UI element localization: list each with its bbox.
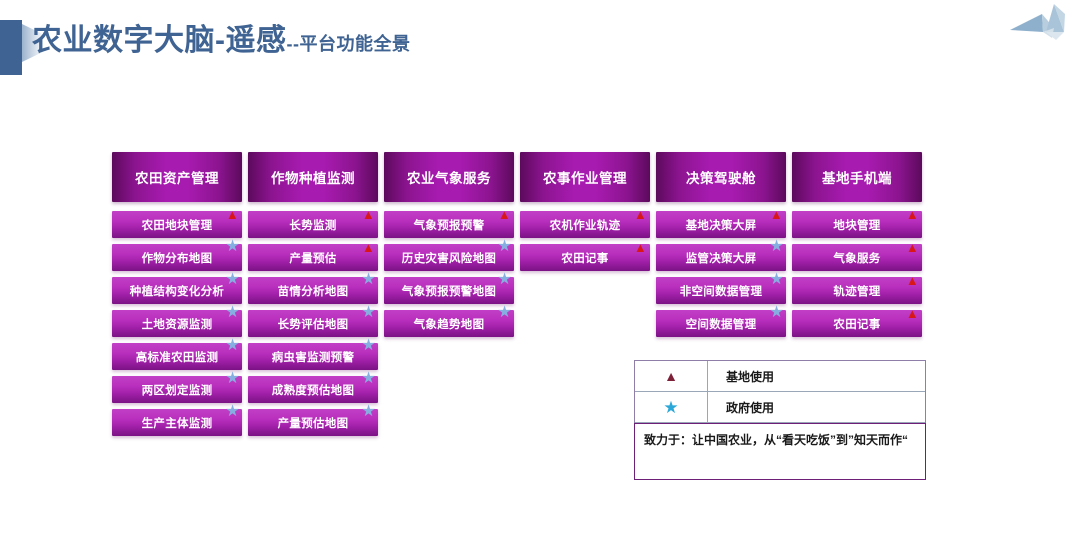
feature-item[interactable]: 轨迹管理▲ [792, 277, 922, 304]
feature-column: 农事作业管理农机作业轨迹▲农田记事▲ [520, 152, 650, 436]
gov-use-star-icon: ★ [225, 272, 240, 288]
column-header[interactable]: 基地手机端 [792, 152, 922, 202]
feature-item[interactable]: 种植结构变化分析★ [112, 277, 242, 304]
column-item-list: 农田地块管理▲作物分布地图★种植结构变化分析★土地资源监测★高标准农田监测★两区… [112, 211, 242, 436]
legend-row: ★政府使用 [635, 392, 925, 423]
gov-use-star-icon: ★ [497, 239, 512, 255]
feature-item[interactable]: 基地决策大屏▲ [656, 211, 786, 238]
column-item-list: 气象预报预警▲历史灾害风险地图★气象预报预警地图★气象趋势地图★ [384, 211, 514, 337]
feature-item[interactable]: 地块管理▲ [792, 211, 922, 238]
feature-item-label: 农田地块管理 [142, 217, 213, 233]
legend-triangle-icon: ▲ [635, 361, 708, 391]
feature-item[interactable]: 产量预估▲ [248, 244, 378, 271]
title-bar: 农业数字大脑-遥感--平台功能全景 [0, 0, 540, 90]
column-header[interactable]: 农业气象服务 [384, 152, 514, 202]
legend-note: 致力于：让中国农业，从“看天吃饭”到”知天而作“ [634, 423, 926, 480]
column-item-list: 地块管理▲气象服务▲轨迹管理▲农田记事▲ [792, 211, 922, 337]
feature-item-label: 农田记事 [561, 250, 608, 266]
feature-item-label: 气象预报预警 [414, 217, 485, 233]
gov-use-star-icon: ★ [361, 272, 376, 288]
column-header[interactable]: 农田资产管理 [112, 152, 242, 202]
column-header[interactable]: 作物种植监测 [248, 152, 378, 202]
feature-item[interactable]: 空间数据管理★ [656, 310, 786, 337]
page-title: 农业数字大脑-遥感--平台功能全景 [32, 21, 411, 64]
feature-item[interactable]: 成熟度预估地图★ [248, 376, 378, 403]
feature-item-label: 高标准农田监测 [136, 349, 219, 365]
column-header[interactable]: 决策驾驶舱 [656, 152, 786, 202]
feature-item-label: 苗情分析地图 [278, 283, 349, 299]
feature-column: 作物种植监测长势监测▲产量预估▲苗情分析地图★长势评估地图★病虫害监测预警★成熟… [248, 152, 378, 436]
legend-row: ▲基地使用 [635, 361, 925, 392]
feature-item-label: 农田记事 [833, 316, 880, 332]
feature-item[interactable]: 监管决策大屏★ [656, 244, 786, 271]
column-item-list: 基地决策大屏▲监管决策大屏★非空间数据管理★空间数据管理★ [656, 211, 786, 337]
feature-item[interactable]: 生产主体监测★ [112, 409, 242, 436]
feature-item[interactable]: 气象预报预警地图★ [384, 277, 514, 304]
gov-use-star-icon: ★ [225, 404, 240, 420]
feature-item-label: 种植结构变化分析 [130, 283, 224, 299]
feature-item[interactable]: 农田记事▲ [520, 244, 650, 271]
base-use-triangle-icon: ▲ [906, 274, 919, 287]
base-use-triangle-icon: ▲ [906, 208, 919, 221]
feature-item[interactable]: 农田记事▲ [792, 310, 922, 337]
feature-item-label: 监管决策大屏 [686, 250, 757, 266]
feature-column: 农田资产管理农田地块管理▲作物分布地图★种植结构变化分析★土地资源监测★高标准农… [112, 152, 242, 436]
legend: ▲基地使用★政府使用 致力于：让中国农业，从“看天吃饭”到”知天而作“ [634, 360, 926, 480]
feature-item-label: 生产主体监测 [142, 415, 213, 431]
base-use-triangle-icon: ▲ [770, 208, 783, 221]
feature-item[interactable]: 高标准农田监测★ [112, 343, 242, 370]
base-use-triangle-icon: ▲ [906, 307, 919, 320]
feature-item[interactable]: 长势评估地图★ [248, 310, 378, 337]
feature-item[interactable]: 苗情分析地图★ [248, 277, 378, 304]
feature-item-label: 土地资源监测 [142, 316, 213, 332]
feature-item[interactable]: 长势监测▲ [248, 211, 378, 238]
legend-label: 基地使用 [708, 361, 925, 391]
feature-item-label: 气象预报预警地图 [402, 283, 496, 299]
feature-item-label: 气象服务 [833, 250, 880, 266]
gov-use-star-icon: ★ [225, 338, 240, 354]
feature-item-label: 历史灾害风险地图 [402, 250, 496, 266]
column-item-list: 农机作业轨迹▲农田记事▲ [520, 211, 650, 271]
legend-label: 政府使用 [708, 392, 925, 422]
column-item-list: 长势监测▲产量预估▲苗情分析地图★长势评估地图★病虫害监测预警★成熟度预估地图★… [248, 211, 378, 436]
feature-item-label: 非空间数据管理 [680, 283, 763, 299]
page-title-main: 农业数字大脑-遥感 [32, 24, 287, 57]
gov-use-star-icon: ★ [361, 371, 376, 387]
title-accent-marker [0, 20, 22, 75]
feature-item-label: 长势监测 [289, 217, 336, 233]
feature-item[interactable]: 土地资源监测★ [112, 310, 242, 337]
gov-use-star-icon: ★ [361, 404, 376, 420]
feature-item-label: 成熟度预估地图 [272, 382, 355, 398]
base-use-triangle-icon: ▲ [226, 208, 239, 221]
feature-item-label: 农机作业轨迹 [550, 217, 621, 233]
legend-star-icon: ★ [635, 392, 708, 422]
gov-use-star-icon: ★ [497, 272, 512, 288]
gov-use-star-icon: ★ [225, 371, 240, 387]
base-use-triangle-icon: ▲ [362, 241, 375, 254]
gov-use-star-icon: ★ [361, 305, 376, 321]
feature-item-label: 产量预估 [289, 250, 336, 266]
page-subtitle: --平台功能全景 [287, 34, 411, 54]
feature-item[interactable]: 作物分布地图★ [112, 244, 242, 271]
feature-item-label: 两区划定监测 [142, 382, 213, 398]
feature-item-label: 产量预估地图 [278, 415, 349, 431]
gov-use-star-icon: ★ [769, 305, 784, 321]
feature-item[interactable]: 病虫害监测预警★ [248, 343, 378, 370]
feature-item-label: 基地决策大屏 [686, 217, 757, 233]
feature-item[interactable]: 气象趋势地图★ [384, 310, 514, 337]
gov-use-star-icon: ★ [497, 305, 512, 321]
feature-item-label: 地块管理 [833, 217, 880, 233]
base-use-triangle-icon: ▲ [634, 241, 647, 254]
feature-item[interactable]: 农机作业轨迹▲ [520, 211, 650, 238]
feature-item-label: 空间数据管理 [686, 316, 757, 332]
column-header[interactable]: 农事作业管理 [520, 152, 650, 202]
feature-item-label: 气象趋势地图 [414, 316, 485, 332]
gov-use-star-icon: ★ [225, 239, 240, 255]
feature-item[interactable]: 气象预报预警▲ [384, 211, 514, 238]
feature-item[interactable]: 气象服务▲ [792, 244, 922, 271]
feature-item-label: 作物分布地图 [142, 250, 213, 266]
gov-use-star-icon: ★ [769, 272, 784, 288]
feature-item[interactable]: 两区划定监测★ [112, 376, 242, 403]
feature-item[interactable]: 非空间数据管理★ [656, 277, 786, 304]
base-use-triangle-icon: ▲ [362, 208, 375, 221]
feature-column: 农业气象服务气象预报预警▲历史灾害风险地图★气象预报预警地图★气象趋势地图★ [384, 152, 514, 436]
gov-use-star-icon: ★ [361, 338, 376, 354]
gov-use-star-icon: ★ [225, 305, 240, 321]
base-use-triangle-icon: ▲ [498, 208, 511, 221]
base-use-triangle-icon: ▲ [634, 208, 647, 221]
feature-item-label: 长势评估地图 [278, 316, 349, 332]
gov-use-star-icon: ★ [769, 239, 784, 255]
feature-item-label: 病虫害监测预警 [272, 349, 355, 365]
origami-triangles-icon [1002, 2, 1072, 50]
legend-table: ▲基地使用★政府使用 [634, 360, 926, 423]
feature-item[interactable]: 产量预估地图★ [248, 409, 378, 436]
feature-item[interactable]: 历史灾害风险地图★ [384, 244, 514, 271]
feature-item[interactable]: 农田地块管理▲ [112, 211, 242, 238]
feature-item-label: 轨迹管理 [833, 283, 880, 299]
base-use-triangle-icon: ▲ [906, 241, 919, 254]
